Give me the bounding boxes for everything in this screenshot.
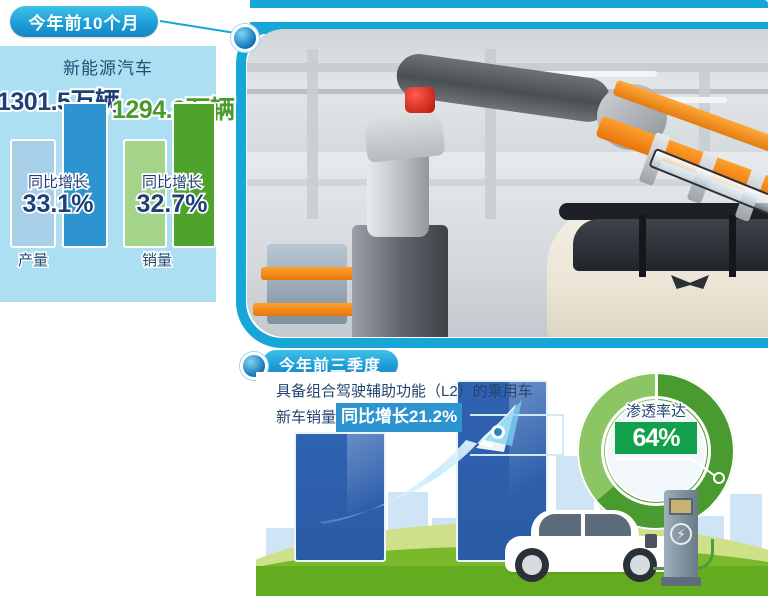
badge-top-dot-icon xyxy=(231,24,259,52)
photo-pillar xyxy=(307,49,318,219)
donut-pointer-line xyxy=(615,458,693,460)
l2-description-prefix: 新车销量 xyxy=(276,409,336,426)
production-growth-caption: 同比增长 xyxy=(2,175,114,191)
factory-photo xyxy=(247,29,768,337)
robot-red-knob xyxy=(405,87,435,113)
badge-connector-line xyxy=(160,20,237,34)
donut-caption: 渗透率达 xyxy=(577,400,735,421)
photo-car-pillar xyxy=(729,215,736,277)
photo-car-glass xyxy=(573,219,768,271)
sales-growth-value: 32.7% xyxy=(120,191,224,217)
badge-top[interactable]: 今年前10个月 xyxy=(10,6,158,37)
photo-car-pillar xyxy=(639,215,646,277)
production-category-label: 产量 xyxy=(18,249,48,270)
panel-title: 新能源汽车 xyxy=(0,54,216,79)
l2-description-line2: 新车销量同比增长21.2% xyxy=(276,403,536,431)
sales-growth-caption: 同比增长 xyxy=(120,175,224,191)
ev-wheel xyxy=(515,548,549,582)
sales-category-label: 销量 xyxy=(142,249,172,270)
production-growth: 同比增长 33.1% xyxy=(2,175,114,217)
charger-screen xyxy=(669,498,693,515)
ev-window xyxy=(539,514,631,536)
charging-station: ⚡ xyxy=(664,490,698,586)
robot-base xyxy=(352,225,448,337)
donut-pointer-knob-icon xyxy=(713,472,725,484)
l2-description-line1: 具备组合驾驶辅助功能（L2）的乘用车 xyxy=(276,380,536,403)
l2-growth-highlight: 同比增长21.2% xyxy=(336,403,462,431)
charger-base xyxy=(661,577,701,586)
frame-top-mask xyxy=(246,8,768,22)
lightning-bolt-icon: ⚡ xyxy=(670,523,692,545)
donut-value: 64% xyxy=(615,422,697,454)
sales-growth: 同比增长 32.7% xyxy=(120,175,224,217)
production-growth-value: 33.1% xyxy=(2,191,114,217)
ev-window-split xyxy=(581,514,585,536)
l2-description: 具备组合驾驶辅助功能（L2）的乘用车 新车销量同比增长21.2% xyxy=(276,380,536,432)
infographic-canvas: 新能源汽车 1301.5万辆 1294.3万辆 产量 销量 同比增长 33.1%… xyxy=(0,0,768,596)
ev-wheel xyxy=(623,548,657,582)
